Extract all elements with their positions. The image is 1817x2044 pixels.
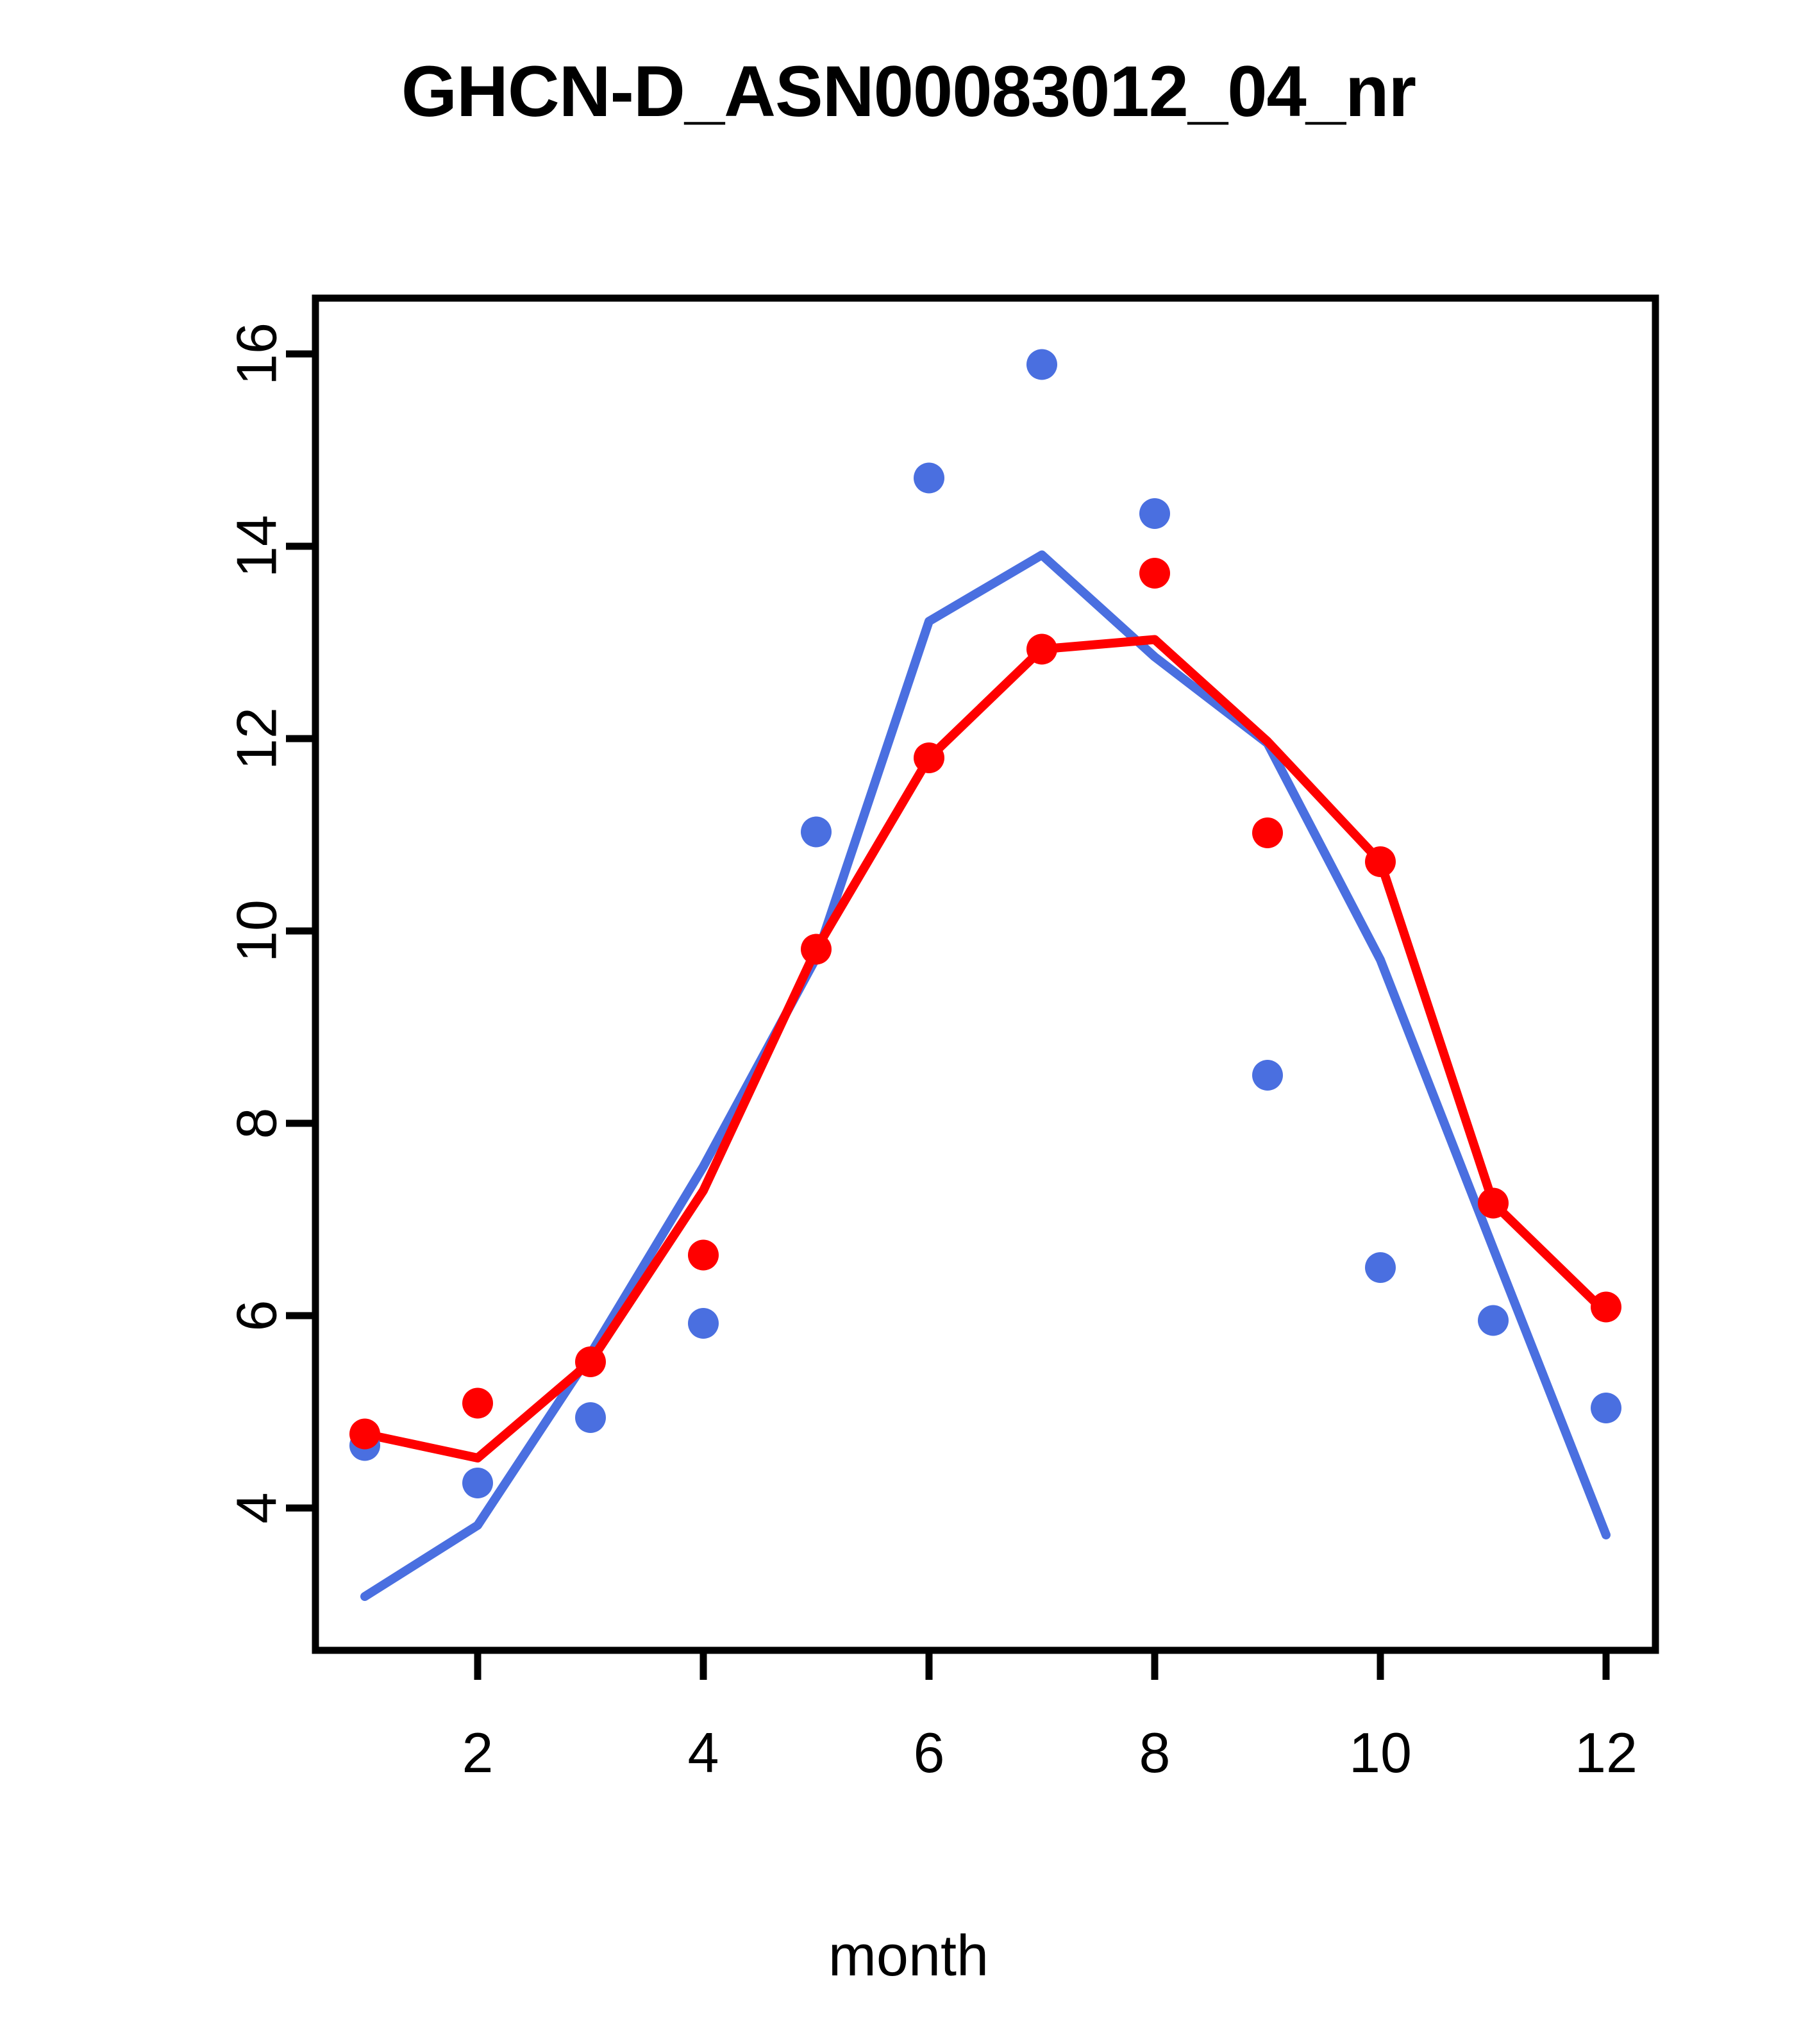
data-point bbox=[1026, 634, 1057, 665]
data-point bbox=[1365, 846, 1396, 877]
data-point bbox=[1252, 1060, 1283, 1091]
y-axis-tick-labels: 46810121416 bbox=[225, 323, 289, 1523]
x-tick-label: 12 bbox=[1575, 1721, 1637, 1784]
y-tick-label: 14 bbox=[225, 515, 289, 578]
x-tick-label: 6 bbox=[914, 1721, 945, 1784]
y-tick-label: 8 bbox=[225, 1108, 289, 1139]
data-point bbox=[1026, 349, 1057, 380]
series-lines bbox=[365, 555, 1606, 1597]
data-point bbox=[914, 742, 944, 773]
y-tick-label: 4 bbox=[225, 1493, 289, 1524]
plot-frame bbox=[315, 298, 1655, 1650]
axis-frame bbox=[286, 298, 1655, 1680]
data-point bbox=[462, 1468, 493, 1498]
data-point bbox=[1591, 1292, 1621, 1323]
chart-plot-area: 46810121416 24681012 bbox=[0, 0, 1817, 2044]
data-point bbox=[688, 1240, 719, 1271]
x-tick-label: 10 bbox=[1349, 1721, 1412, 1784]
data-point bbox=[575, 1346, 606, 1377]
x-tick-label: 4 bbox=[688, 1721, 719, 1784]
data-point bbox=[914, 463, 944, 494]
y-tick-label: 6 bbox=[225, 1300, 289, 1332]
y-tick-label: 12 bbox=[225, 707, 289, 770]
data-point bbox=[1252, 817, 1283, 848]
data-point bbox=[1139, 558, 1170, 589]
data-point bbox=[1478, 1188, 1509, 1219]
x-axis-tick-labels: 24681012 bbox=[462, 1721, 1637, 1784]
series-points bbox=[349, 349, 1621, 1499]
data-point bbox=[801, 817, 832, 848]
x-tick-label: 2 bbox=[462, 1721, 494, 1784]
data-point bbox=[462, 1388, 493, 1419]
y-tick-label: 10 bbox=[225, 900, 289, 962]
x-tick-label: 8 bbox=[1139, 1721, 1171, 1784]
data-point bbox=[349, 1419, 380, 1450]
data-point bbox=[801, 934, 832, 965]
data-point bbox=[1478, 1305, 1509, 1336]
data-point bbox=[688, 1308, 719, 1339]
data-point bbox=[1365, 1252, 1396, 1283]
data-point bbox=[575, 1402, 606, 1433]
x-axis-title: month bbox=[0, 1923, 1817, 1990]
y-tick-label: 16 bbox=[225, 323, 289, 385]
data-point bbox=[1139, 498, 1170, 529]
series-line-blue-line bbox=[365, 555, 1606, 1597]
data-point bbox=[1591, 1393, 1621, 1423]
chart-page: GHCN-D_ASN00083012_04_nr 46810121416 246… bbox=[0, 0, 1817, 2044]
